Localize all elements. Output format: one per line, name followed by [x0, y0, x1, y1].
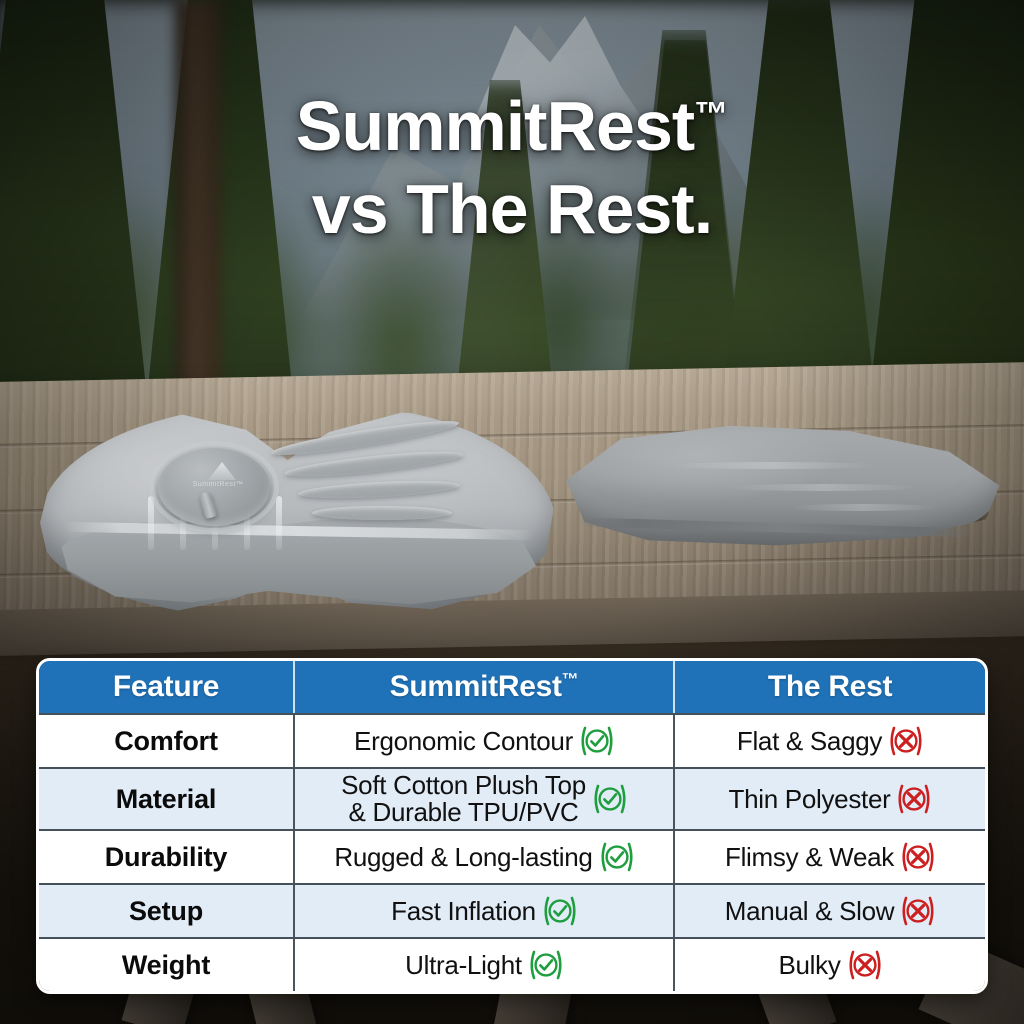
- summit-value: Soft Cotton Plush Top & Durable TPU/PVC: [341, 772, 586, 826]
- feature-label: Durability: [105, 842, 228, 873]
- pillow-pleat-5: [276, 496, 282, 550]
- cell-feature: Weight: [39, 939, 295, 991]
- rival-wrinkle-1: [668, 462, 878, 469]
- rest-value: Flimsy & Weak: [725, 842, 894, 873]
- table-row: Material Soft Cotton Plush Top & Durable…: [39, 767, 985, 829]
- rest-value: Manual & Slow: [725, 896, 895, 927]
- rival-wrinkle-3: [788, 504, 938, 511]
- cell-the-rest: Bulky: [675, 939, 985, 991]
- header-label-feature: Feature: [113, 670, 219, 704]
- feature-label: Weight: [122, 950, 210, 981]
- header-label-summitrest: SummitRest™: [390, 670, 579, 704]
- rest-value: Flat & Saggy: [737, 726, 882, 757]
- check-circle-icon: [543, 894, 577, 928]
- header-summit-tm: ™: [562, 670, 579, 689]
- table-header-row: Feature SummitRest™ The Rest: [39, 661, 985, 713]
- header-cell-the-rest: The Rest: [675, 661, 985, 713]
- summit-value: Rugged & Long-lasting: [334, 842, 592, 873]
- check-circle-icon: [529, 948, 563, 982]
- rest-value: Bulky: [778, 950, 840, 981]
- table-row: Setup Fast Inflation Manual & Slow: [39, 883, 985, 937]
- summit-value-line1: Soft Cotton Plush Top: [341, 772, 586, 799]
- header-label-the-rest: The Rest: [768, 670, 892, 704]
- cell-summitrest: Fast Inflation: [295, 885, 675, 937]
- summit-value: Fast Inflation: [391, 896, 536, 927]
- table-row: Comfort Ergonomic Contour Flat & Saggy: [39, 713, 985, 767]
- header-summit-base: SummitRest: [390, 670, 562, 703]
- summit-value: Ultra-Light: [405, 950, 522, 981]
- feature-label: Material: [116, 784, 216, 815]
- check-circle-icon: [593, 782, 627, 816]
- x-circle-icon: [848, 948, 882, 982]
- ergonomic-contour-4: [312, 506, 452, 520]
- feature-label: Comfort: [114, 726, 218, 757]
- table-row: Weight Ultra-Light Bulky: [39, 937, 985, 991]
- x-circle-icon: [897, 782, 931, 816]
- trademark-symbol: ™: [694, 96, 728, 134]
- feature-label: Setup: [129, 896, 203, 927]
- check-circle-icon: [580, 724, 614, 758]
- cell-the-rest: Manual & Slow: [675, 885, 985, 937]
- title-line-2: vs The Rest.: [0, 175, 1024, 244]
- rest-value: Thin Polyester: [729, 784, 891, 815]
- cell-summitrest: Ultra-Light: [295, 939, 675, 991]
- table-row: Durability Rugged & Long-lasting Flimsy …: [39, 829, 985, 883]
- title-brand: SummitRest: [296, 87, 694, 165]
- cell-summitrest: Soft Cotton Plush Top & Durable TPU/PVC: [295, 769, 675, 829]
- cell-the-rest: Flimsy & Weak: [675, 831, 985, 883]
- cell-feature: Durability: [39, 831, 295, 883]
- cell-summitrest: Ergonomic Contour: [295, 715, 675, 767]
- rival-wrinkle-2: [728, 484, 918, 491]
- page-title: SummitRest™ vs The Rest.: [0, 92, 1024, 243]
- summit-value: Ergonomic Contour: [354, 726, 573, 757]
- cell-summitrest: Rugged & Long-lasting: [295, 831, 675, 883]
- comparison-table: Feature SummitRest™ The Rest Comfort Erg…: [36, 658, 988, 994]
- generic-pillow-image: [548, 418, 1004, 548]
- cell-feature: Comfort: [39, 715, 295, 767]
- inflation-valve-cap: SummitRest™: [158, 448, 270, 526]
- x-circle-icon: [901, 894, 935, 928]
- cell-feature: Material: [39, 769, 295, 829]
- cell-feature: Setup: [39, 885, 295, 937]
- header-cell-feature: Feature: [39, 661, 295, 713]
- x-circle-icon: [901, 840, 935, 874]
- summitrest-pillow-image: SummitRest™: [40, 404, 556, 620]
- check-circle-icon: [600, 840, 634, 874]
- valve-brand-text: SummitRest™: [180, 481, 256, 488]
- summit-value-line2: & Durable TPU/PVC: [341, 799, 586, 826]
- header-cell-summitrest: SummitRest™: [295, 661, 675, 713]
- cell-the-rest: Flat & Saggy: [675, 715, 985, 767]
- title-line-1: SummitRest™: [0, 92, 1024, 161]
- x-circle-icon: [889, 724, 923, 758]
- cell-the-rest: Thin Polyester: [675, 769, 985, 829]
